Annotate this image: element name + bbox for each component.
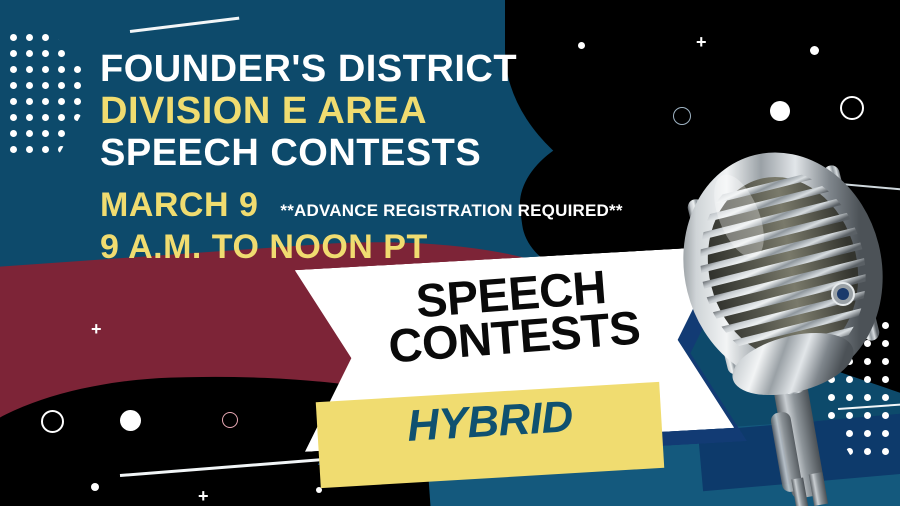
microphone-icon [675,120,900,506]
decor-dot-3 [770,101,790,121]
decor-ring-2 [840,96,864,120]
decor-dot-2 [810,46,819,55]
event-date: MARCH 9 [100,186,258,225]
decor-dot-4 [120,410,141,431]
headline-line-3: SPEECH CONTESTS [100,134,720,172]
headline-line-1: FOUNDER'S DISTRICT [100,50,720,88]
decor-plus-1: + [696,33,707,51]
decor-dot-5 [91,483,99,491]
date-row: MARCH 9 **ADVANCE REGISTRATION REQUIRED*… [100,186,740,225]
decor-plus-2: + [91,320,102,338]
event-time: 9 A.M. TO NOON PT [100,228,428,267]
decor-ring-4 [222,412,238,428]
headline-line-2: DIVISION E AREA [100,92,720,130]
decor-dot-1 [578,42,585,49]
decor-plus-3: + [198,487,209,505]
headline-block: FOUNDER'S DISTRICT DIVISION E AREA SPEEC… [100,50,720,176]
decor-ring-3 [41,410,64,433]
registration-note: **ADVANCE REGISTRATION REQUIRED** [280,201,622,221]
promo-poster: + + + FOUNDER'S DISTRICT DIVISION E AREA… [0,0,900,506]
